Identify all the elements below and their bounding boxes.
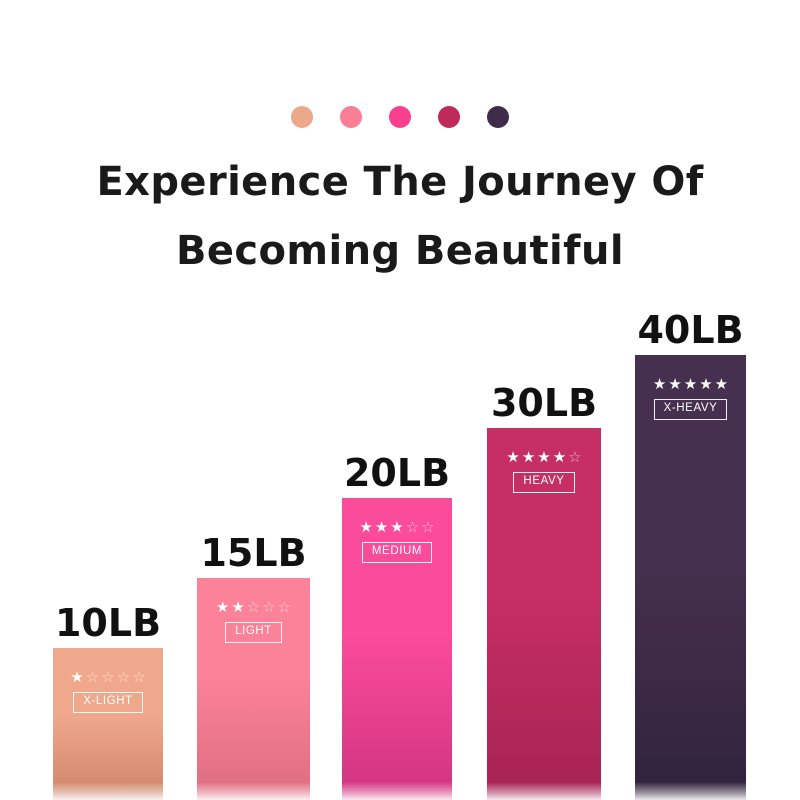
star-filled-icon: ★: [553, 450, 566, 465]
resistance-tag: MEDIUM: [362, 542, 432, 563]
star-filled-icon: ★: [699, 377, 712, 392]
star-filled-icon: ★: [537, 450, 550, 465]
bar-content: ★★★★☆HEAVY: [487, 450, 601, 493]
bar-content: ★★★☆☆MEDIUM: [342, 520, 452, 563]
star-empty-icon: ☆: [421, 520, 434, 535]
star-empty-icon: ☆: [278, 600, 291, 615]
bar-fill: [635, 355, 746, 800]
star-empty-icon: ☆: [568, 450, 581, 465]
bar-value-label: 30LB: [491, 384, 597, 422]
product-infographic: Experience The Journey Of Becoming Beaut…: [0, 0, 800, 800]
resistance-tag: X-HEAVY: [654, 399, 728, 420]
star-filled-icon: ★: [506, 450, 519, 465]
star-filled-icon: ★: [359, 520, 372, 535]
resistance-tag: LIGHT: [225, 622, 282, 643]
rating-stars: ★☆☆☆☆: [70, 670, 145, 685]
star-empty-icon: ☆: [406, 520, 419, 535]
star-filled-icon: ★: [390, 520, 403, 535]
rating-stars: ★★★★☆: [506, 450, 581, 465]
rating-stars: ★★☆☆☆: [216, 600, 291, 615]
star-filled-icon: ★: [653, 377, 666, 392]
star-empty-icon: ☆: [262, 600, 275, 615]
bar-value-label: 10LB: [55, 604, 161, 642]
star-empty-icon: ☆: [247, 600, 260, 615]
bar-group-30lb[interactable]: 30LB★★★★☆HEAVY: [487, 428, 601, 800]
bar-value-label: 15LB: [200, 534, 306, 572]
star-filled-icon: ★: [715, 377, 728, 392]
resistance-tag: HEAVY: [513, 472, 574, 493]
bar-10lb[interactable]: ★☆☆☆☆X-LIGHT: [53, 648, 163, 800]
bar-value-label: 40LB: [637, 311, 743, 349]
star-empty-icon: ☆: [132, 670, 145, 685]
bar-content: ★★★★★X-HEAVY: [635, 377, 746, 420]
bar-40lb[interactable]: ★★★★★X-HEAVY: [635, 355, 746, 800]
bar-20lb[interactable]: ★★★☆☆MEDIUM: [342, 498, 452, 800]
resistance-bar-chart: 10LB★☆☆☆☆X-LIGHT15LB★★☆☆☆LIGHT20LB★★★☆☆M…: [0, 0, 800, 800]
bar-group-20lb[interactable]: 20LB★★★☆☆MEDIUM: [342, 498, 452, 800]
bar-content: ★★☆☆☆LIGHT: [197, 600, 310, 643]
star-filled-icon: ★: [231, 600, 244, 615]
bar-30lb[interactable]: ★★★★☆HEAVY: [487, 428, 601, 800]
star-filled-icon: ★: [216, 600, 229, 615]
star-filled-icon: ★: [375, 520, 388, 535]
bar-15lb[interactable]: ★★☆☆☆LIGHT: [197, 578, 310, 800]
star-filled-icon: ★: [684, 377, 697, 392]
star-empty-icon: ☆: [86, 670, 99, 685]
star-empty-icon: ☆: [101, 670, 114, 685]
resistance-tag: X-LIGHT: [73, 692, 143, 713]
star-filled-icon: ★: [522, 450, 535, 465]
bar-content: ★☆☆☆☆X-LIGHT: [53, 670, 163, 713]
rating-stars: ★★★☆☆: [359, 520, 434, 535]
bar-value-label: 20LB: [344, 454, 450, 492]
star-filled-icon: ★: [70, 670, 83, 685]
bar-group-10lb[interactable]: 10LB★☆☆☆☆X-LIGHT: [53, 648, 163, 800]
rating-stars: ★★★★★: [653, 377, 728, 392]
bar-group-15lb[interactable]: 15LB★★☆☆☆LIGHT: [197, 578, 310, 800]
star-empty-icon: ☆: [117, 670, 130, 685]
star-filled-icon: ★: [668, 377, 681, 392]
bar-group-40lb[interactable]: 40LB★★★★★X-HEAVY: [635, 355, 746, 800]
